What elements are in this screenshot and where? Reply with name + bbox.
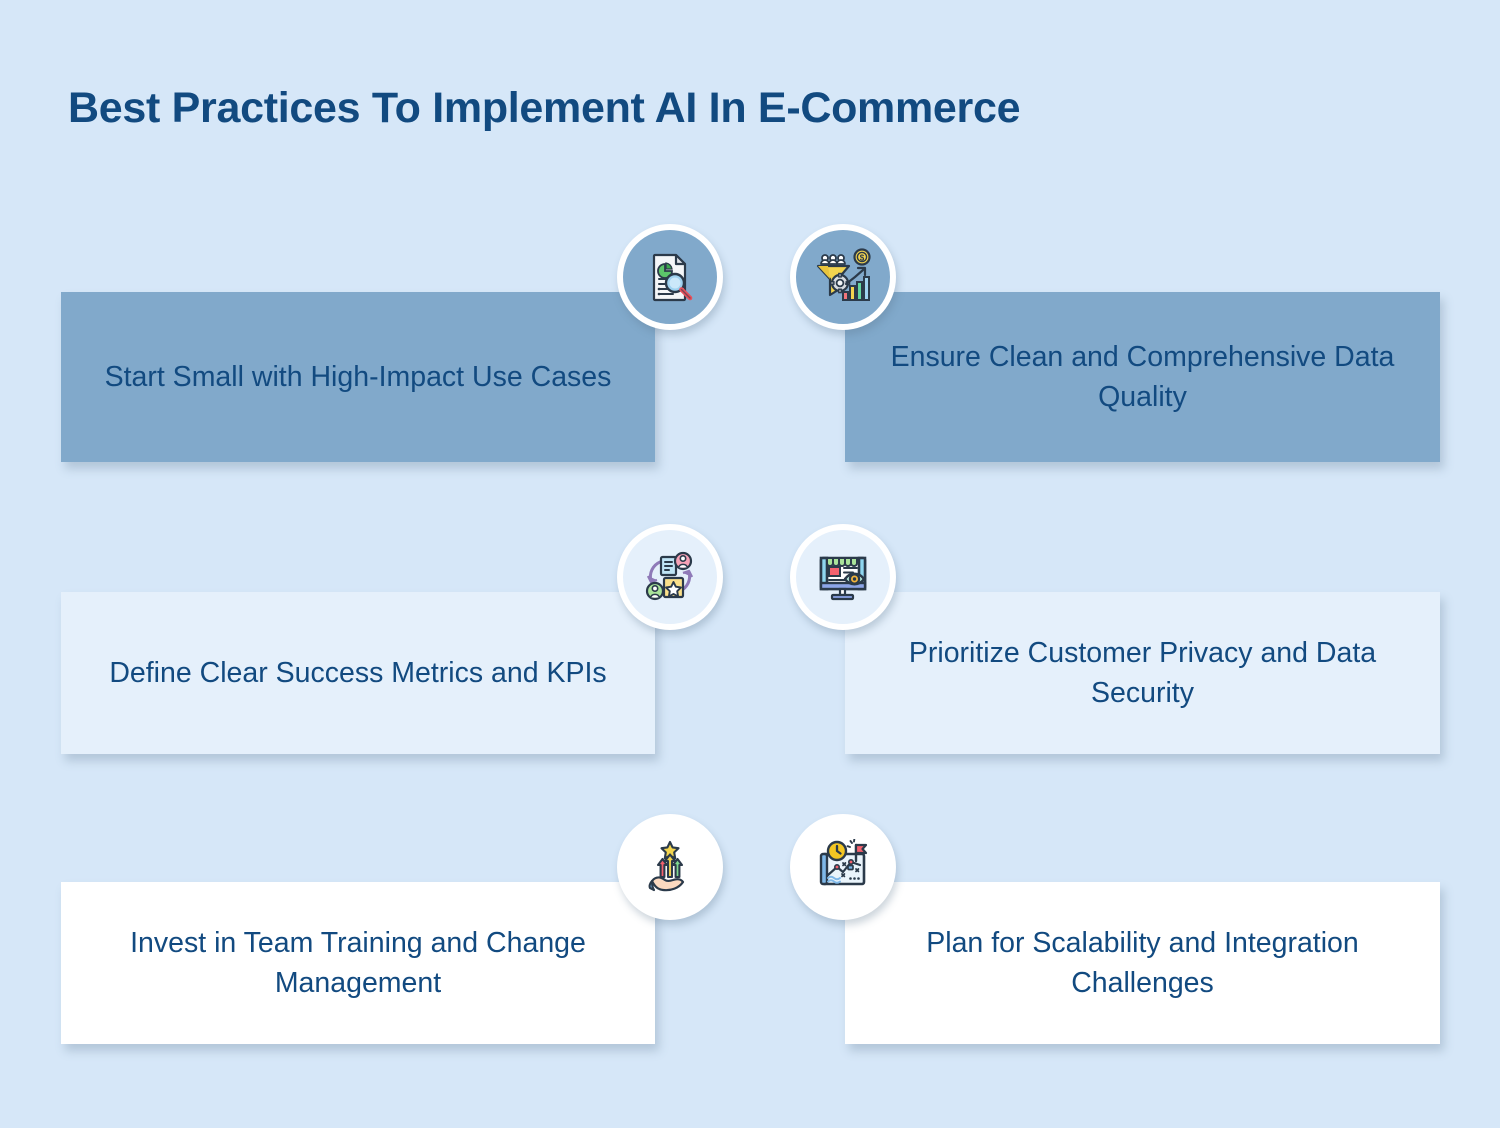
practice-icon-circle-6 — [790, 814, 896, 920]
practice-card-4: Prioritize Customer Privacy and Data Sec… — [845, 592, 1440, 754]
practice-icon-circle-2: $ — [790, 224, 896, 330]
practice-card-3: Define Clear Success Metrics and KPIs — [61, 592, 655, 754]
practice-icon-circle-3 — [617, 524, 723, 630]
roadmap-clock-flag-icon — [815, 839, 871, 895]
monitor-eye-icon — [815, 549, 871, 605]
feedback-cycle-icon — [642, 549, 698, 605]
practice-card-4-label: Prioritize Customer Privacy and Data Sec… — [845, 633, 1440, 714]
practice-icon-circle-1 — [617, 224, 723, 330]
sales-funnel-chart-icon: $ — [814, 248, 872, 306]
infographic-page: Best Practices To Implement AI In E-Comm… — [0, 0, 1500, 1128]
document-analysis-icon — [641, 248, 699, 306]
practice-card-5: Invest in Team Training and Change Manag… — [61, 882, 655, 1044]
practice-card-3-label: Define Clear Success Metrics and KPIs — [79, 653, 636, 693]
practice-card-1: Start Small with High-Impact Use Cases — [61, 292, 655, 462]
svg-text:$: $ — [860, 254, 865, 263]
page-title: Best Practices To Implement AI In E-Comm… — [68, 84, 1020, 133]
practice-icon-circle-4 — [790, 524, 896, 630]
practice-card-5-label: Invest in Team Training and Change Manag… — [61, 923, 655, 1004]
hand-growth-arrows-icon — [642, 839, 698, 895]
practice-card-1-label: Start Small with High-Impact Use Cases — [75, 357, 642, 397]
practice-card-6-label: Plan for Scalability and Integration Cha… — [845, 923, 1440, 1004]
practice-card-2-label: Ensure Clean and Comprehensive Data Qual… — [845, 337, 1440, 418]
practice-icon-circle-5 — [617, 814, 723, 920]
practice-card-6: Plan for Scalability and Integration Cha… — [845, 882, 1440, 1044]
practice-card-2: Ensure Clean and Comprehensive Data Qual… — [845, 292, 1440, 462]
